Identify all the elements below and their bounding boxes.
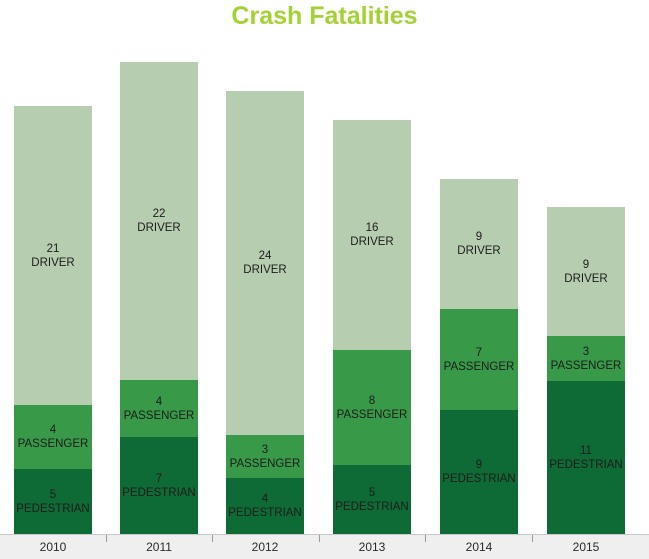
bar-segment-driver[interactable]	[440, 179, 518, 309]
bar-column[interactable]: 9DRIVER3PASSENGER11PEDESTRIAN	[547, 0, 625, 534]
bar-column[interactable]: 24DRIVER3PASSENGER4PEDESTRIAN	[226, 0, 304, 534]
bar-segment-pedestrian[interactable]	[226, 478, 304, 534]
bar-column[interactable]: 9DRIVER7PASSENGER9PEDESTRIAN	[440, 0, 518, 534]
x-axis-label-2015: 2015	[547, 540, 625, 554]
bar-segment-driver[interactable]	[14, 106, 92, 405]
x-axis-tick	[212, 535, 213, 542]
x-axis-tick	[532, 535, 533, 542]
bar-segment-driver[interactable]	[226, 91, 304, 435]
bar-segment-pedestrian[interactable]	[440, 410, 518, 534]
bar-column[interactable]: 21DRIVER4PASSENGER5PEDESTRIAN	[14, 0, 92, 534]
x-axis-tick	[425, 535, 426, 542]
bar-segment-passenger[interactable]	[226, 435, 304, 478]
bar-segment-passenger[interactable]	[120, 380, 198, 437]
bar-column[interactable]: 22DRIVER4PASSENGER7PEDESTRIAN	[120, 0, 198, 534]
bar-segment-passenger[interactable]	[547, 336, 625, 381]
bar-column[interactable]: 16DRIVER8PASSENGER5PEDESTRIAN	[333, 0, 411, 534]
chart-root: Crash Fatalities 21DRIVER4PASSENGER5PEDE…	[0, 0, 649, 559]
x-axis-tick	[106, 535, 107, 542]
bar-segment-pedestrian[interactable]	[547, 381, 625, 534]
x-axis-label-2011: 2011	[120, 540, 198, 554]
bar-segment-driver[interactable]	[333, 120, 411, 350]
bar-segment-passenger[interactable]	[333, 350, 411, 465]
x-axis-label-2010: 2010	[14, 540, 92, 554]
bar-segment-pedestrian[interactable]	[120, 437, 198, 534]
plot-area: 21DRIVER4PASSENGER5PEDESTRIAN22DRIVER4PA…	[0, 0, 649, 534]
bar-segment-driver[interactable]	[120, 62, 198, 380]
x-axis-tick	[319, 535, 320, 542]
bar-segment-passenger[interactable]	[440, 309, 518, 410]
x-axis-label-2012: 2012	[226, 540, 304, 554]
x-axis: 201020112012201320142015	[0, 534, 649, 559]
bar-segment-driver[interactable]	[547, 207, 625, 336]
bar-segment-pedestrian[interactable]	[333, 465, 411, 534]
bar-segment-passenger[interactable]	[14, 405, 92, 469]
x-axis-label-2014: 2014	[440, 540, 518, 554]
x-axis-label-2013: 2013	[333, 540, 411, 554]
bar-segment-pedestrian[interactable]	[14, 469, 92, 534]
